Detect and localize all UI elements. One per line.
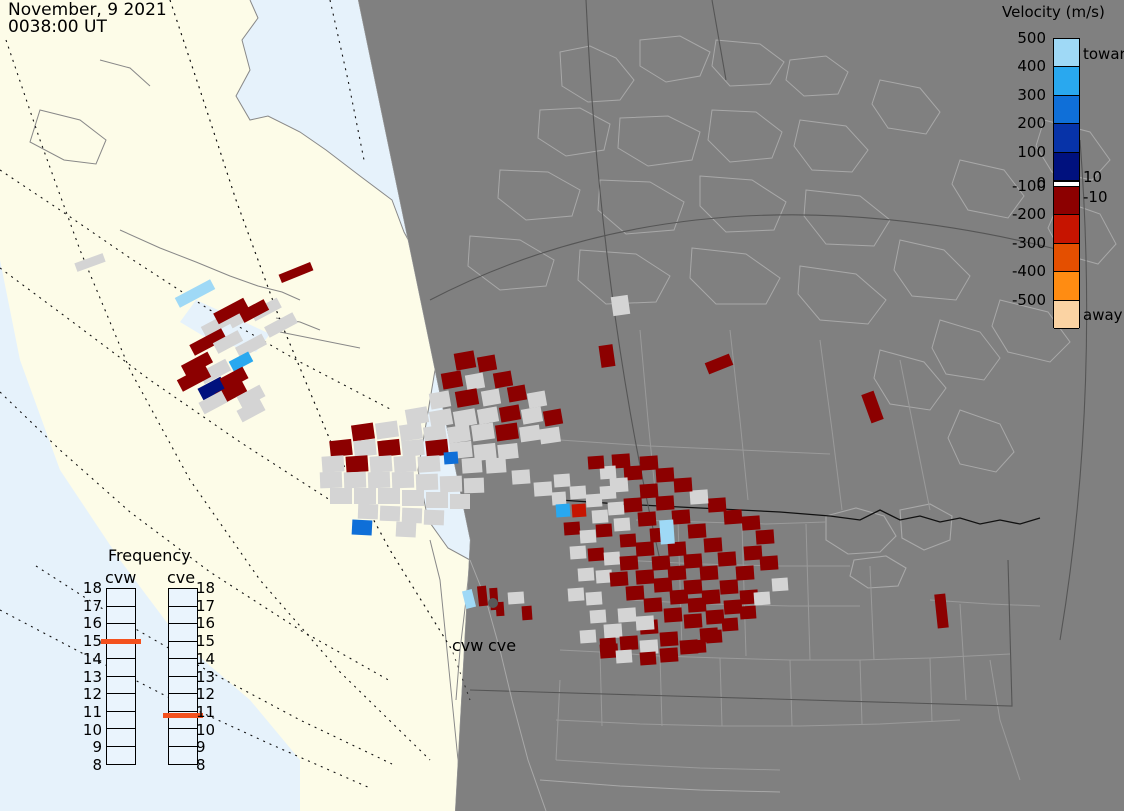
backscatter-cell [640, 455, 659, 470]
backscatter-cell [320, 472, 343, 489]
backscatter-cell [580, 529, 597, 543]
frequency-tick-cve-15: 15 [196, 632, 215, 650]
frequency-ticks-cvw: 18171615141312111098 [80, 588, 104, 765]
frequency-tick-cvw-9: 9 [92, 738, 102, 756]
backscatter-cell [718, 551, 737, 566]
colorbar-band-4 [1054, 153, 1079, 181]
backscatter-cell [604, 623, 623, 638]
backscatter-cell [616, 649, 633, 663]
backscatter-cell [608, 501, 625, 515]
backscatter-cell [392, 472, 415, 489]
backscatter-cell [564, 521, 581, 535]
backscatter-cell [636, 541, 655, 556]
frequency-tick-cvw-8: 8 [92, 756, 102, 774]
frequency-tick-cvw-17: 17 [83, 597, 102, 615]
backscatter-cell [417, 455, 440, 472]
frequency-tick-cvw-11: 11 [83, 703, 102, 721]
colorbar-band-9 [1054, 272, 1079, 300]
backscatter-cell [426, 492, 448, 508]
backscatter-cell [402, 508, 423, 524]
timestamp: November, 9 2021 0038:00 UT [8, 2, 167, 36]
backscatter-cell [416, 474, 439, 491]
frequency-cell [107, 712, 135, 730]
colorbar-label-away: away [1083, 306, 1123, 324]
backscatter-cell [640, 651, 657, 665]
frequency-tick-cve-12: 12 [196, 685, 215, 703]
backscatter-cell [672, 509, 691, 524]
backscatter-cell [611, 295, 630, 316]
colorbar-tick--500: -500 [1012, 291, 1046, 309]
backscatter-cell [660, 631, 679, 646]
backscatter-cell [688, 597, 707, 612]
colorbar-band-3 [1054, 124, 1079, 152]
backscatter-cell [688, 523, 707, 538]
backscatter-cell [450, 494, 470, 509]
backscatter-cell [424, 510, 445, 526]
backscatter-cell [580, 629, 597, 643]
backscatter-cell [519, 425, 541, 443]
backscatter-cell [590, 609, 607, 623]
velocity-colorbar-ticks: 5004003002001000-100-200-300-400-500 [980, 0, 1050, 345]
backscatter-cell [447, 425, 471, 444]
backscatter-cell [586, 493, 603, 507]
backscatter-cell [772, 577, 789, 591]
frequency-tick-cvw-13: 13 [83, 668, 102, 686]
backscatter-cell [652, 555, 671, 570]
backscatter-cell [429, 390, 451, 409]
backscatter-cell [610, 477, 629, 492]
backscatter-cell [588, 455, 605, 469]
frequency-tick-cve-8: 8 [196, 756, 206, 774]
backscatter-cell [659, 520, 675, 545]
backscatter-cell [596, 523, 613, 537]
colorbar-band-10 [1054, 301, 1079, 329]
backscatter-cell [690, 489, 709, 504]
backscatter-cell [568, 587, 585, 601]
backscatter-cell [620, 533, 637, 547]
backscatter-cell [534, 481, 553, 496]
radar-site-marker[interactable] [488, 598, 498, 608]
frequency-cell [107, 694, 135, 712]
colorbar-label-minus-10: -10 [1083, 188, 1108, 206]
backscatter-cell [586, 591, 603, 605]
frequency-cell [107, 729, 135, 747]
backscatter-cell [368, 472, 391, 489]
backscatter-cell [700, 565, 719, 580]
backscatter-cell [440, 476, 463, 493]
backscatter-cell [690, 639, 707, 653]
backscatter-cell [572, 504, 587, 518]
backscatter-cell [620, 635, 639, 650]
backscatter-cell [507, 385, 527, 403]
frequency-tick-cvw-14: 14 [83, 650, 102, 668]
backscatter-cell [664, 607, 683, 622]
backscatter-cell [539, 427, 561, 445]
colorbar-band-6 [1054, 187, 1079, 215]
backscatter-cell [570, 545, 587, 559]
backscatter-cell [724, 509, 743, 524]
backscatter-cell [736, 565, 755, 580]
backscatter-cell [706, 609, 725, 624]
backscatter-cell [354, 488, 376, 504]
frequency-tick-cve-18: 18 [196, 579, 215, 597]
backscatter-cell [497, 443, 518, 460]
frequency-tick-cvw-12: 12 [83, 685, 102, 703]
colorbar-tick--300: -300 [1012, 234, 1046, 252]
backscatter-cell [369, 455, 392, 472]
frequency-tick-cvw-16: 16 [83, 614, 102, 632]
backscatter-cell [375, 421, 399, 440]
backscatter-cell [527, 391, 547, 409]
frequency-tick-cve-9: 9 [196, 738, 206, 756]
frequency-marker-cvw [101, 639, 141, 644]
velocity-colorbar[interactable] [1053, 38, 1080, 328]
backscatter-cell [351, 423, 375, 442]
colorbar-tick--400: -400 [1012, 262, 1046, 280]
backscatter-cell [464, 478, 485, 494]
backscatter-cell [353, 439, 377, 457]
backscatter-cell [636, 569, 655, 584]
backscatter-cell [674, 477, 693, 492]
backscatter-cell [465, 373, 485, 391]
frequency-cell [107, 677, 135, 695]
backscatter-cell [626, 585, 645, 600]
colorbar-band-7 [1054, 215, 1079, 243]
backscatter-cell [393, 455, 416, 472]
backscatter-cell [486, 457, 507, 473]
backscatter-cell [441, 370, 463, 389]
backscatter-cell [396, 521, 417, 537]
backscatter-cell [380, 506, 401, 522]
backscatter-cell [471, 423, 495, 442]
backscatter-cell [477, 355, 497, 373]
radar-site-label-cvw: cvw [452, 636, 483, 655]
frequency-tick-cvw-10: 10 [83, 721, 102, 739]
backscatter-cell [684, 553, 703, 568]
backscatter-cell [684, 613, 703, 628]
backscatter-cell [495, 423, 519, 442]
backscatter-cell [592, 509, 609, 523]
frequency-tick-cve-11: 11 [196, 703, 215, 721]
backscatter-cell [756, 529, 775, 544]
colorbar-tick-100: 100 [1017, 143, 1046, 161]
frequency-cell [107, 589, 135, 607]
timestamp-time: 0038:00 UT [8, 19, 167, 36]
backscatter-cell [329, 439, 353, 457]
backscatter-cell [722, 617, 739, 631]
backscatter-cell [656, 467, 675, 482]
colorbar-tick--200: -200 [1012, 205, 1046, 223]
backscatter-cell [610, 571, 629, 586]
colorbar-tick-200: 200 [1017, 114, 1046, 132]
colorbar-band-8 [1054, 244, 1079, 272]
backscatter-cell [399, 423, 423, 442]
backscatter-cell [640, 483, 659, 498]
backscatter-cell [454, 350, 477, 370]
backscatter-cell [618, 607, 637, 622]
frequency-legend: Frequency cvw18171615141312111098cve1817… [82, 546, 242, 796]
frequency-cell [107, 642, 135, 660]
frequency-cell [107, 747, 135, 765]
backscatter-cell [614, 517, 631, 531]
backscatter-cell [588, 547, 605, 561]
colorbar-tick-300: 300 [1017, 86, 1046, 104]
frequency-tick-cve-16: 16 [196, 614, 215, 632]
backscatter-cell [512, 469, 531, 484]
radar-site-label-cve: cve [488, 636, 516, 655]
backscatter-cell [638, 511, 657, 526]
backscatter-cell [740, 605, 757, 619]
backscatter-cell [522, 606, 533, 621]
backscatter-cell [321, 455, 344, 472]
frequency-cell [107, 607, 135, 625]
backscatter-cell [554, 473, 571, 487]
backscatter-cell [493, 371, 513, 389]
backscatter-cell [654, 577, 673, 592]
backscatter-cell [600, 637, 617, 651]
backscatter-cell [660, 647, 679, 662]
colorbar-band-2 [1054, 96, 1079, 124]
backscatter-cell [656, 495, 675, 510]
colorbar-band-0 [1054, 39, 1079, 67]
backscatter-cell [462, 457, 483, 473]
colorbar-tick-500: 500 [1017, 29, 1046, 47]
backscatter-cell [578, 567, 595, 581]
backscatter-cell [706, 629, 723, 643]
superdarn-map-view: November, 9 2021 0038:00 UT Velocity (m/… [0, 0, 1124, 811]
backscatter-cell [556, 504, 571, 518]
velocity-legend: Velocity (m/s) 5004003002001000-100-200-… [980, 0, 1124, 345]
colorbar-band-1 [1054, 67, 1079, 95]
backscatter-cell [352, 519, 373, 535]
backscatter-cell [636, 615, 655, 630]
backscatter-cell [358, 504, 379, 520]
frequency-tick-cve-10: 10 [196, 721, 215, 739]
frequency-tick-cvw-15: 15 [83, 632, 102, 650]
backscatter-cell [345, 455, 368, 472]
frequency-tick-cve-17: 17 [196, 597, 215, 615]
frequency-column-title-cvw: cvw [105, 568, 136, 587]
backscatter-cell [330, 488, 352, 504]
frequency-tick-cvw-18: 18 [83, 579, 102, 597]
backscatter-cell [444, 452, 459, 465]
backscatter-cell [344, 472, 367, 489]
frequency-column-title-cve: cve [167, 568, 195, 587]
backscatter-cell [754, 591, 771, 605]
backscatter-cell [378, 488, 400, 504]
backscatter-cell [377, 439, 401, 457]
backscatter-cell [543, 409, 563, 427]
frequency-tick-cve-13: 13 [196, 668, 215, 686]
backscatter-cell [744, 545, 763, 560]
frequency-ticks-cve: 18171615141312111098 [192, 588, 218, 765]
backscatter-cell [760, 555, 779, 570]
frequency-box-cvw[interactable] [106, 588, 136, 765]
colorbar-tick-400: 400 [1017, 57, 1046, 75]
frequency-cell [107, 659, 135, 677]
backscatter-cell [742, 515, 761, 530]
backscatter-cell [704, 537, 723, 552]
frequency-tick-cve-14: 14 [196, 650, 215, 668]
velocity-colorbar-side-labels: toward10-10away [1083, 0, 1124, 345]
backscatter-cell [552, 492, 567, 506]
backscatter-cell [670, 589, 689, 604]
colorbar-tick--100: -100 [1012, 177, 1046, 195]
frequency-legend-title: Frequency [108, 546, 191, 565]
backscatter-cell [402, 490, 424, 506]
backscatter-cell [508, 591, 525, 604]
backscatter-cell [570, 485, 587, 499]
backscatter-cell [644, 597, 663, 612]
backscatter-cell [708, 497, 727, 512]
colorbar-label-toward: toward [1083, 45, 1124, 63]
backscatter-cell [481, 389, 501, 407]
backscatter-cell [604, 551, 621, 565]
backscatter-cell [720, 579, 739, 594]
backscatter-cell [620, 555, 639, 570]
backscatter-cell [624, 497, 643, 512]
colorbar-label-plus-10: 10 [1083, 168, 1102, 186]
backscatter-cell [401, 439, 425, 457]
